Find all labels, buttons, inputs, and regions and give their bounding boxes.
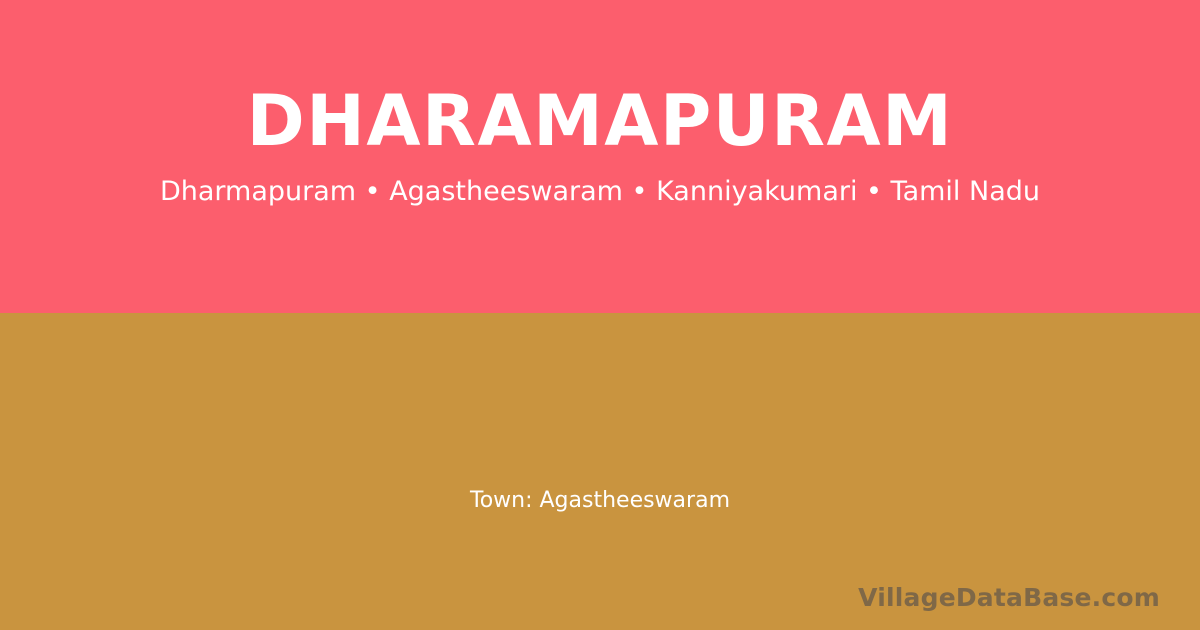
breadcrumb: Dharmapuram • Agastheeswaram • Kanniyaku… <box>0 172 1200 212</box>
hero-text-block: DHARAMAPURAM Dharmapuram • Agastheeswara… <box>0 78 1200 212</box>
page-title: DHARAMAPURAM <box>0 78 1200 164</box>
village-info-card: DHARAMAPURAM Dharmapuram • Agastheeswara… <box>0 0 1200 630</box>
site-watermark: VillageDataBase.com <box>858 583 1160 613</box>
town-detail-text: Town: Agastheeswaram <box>0 485 1200 517</box>
hero-banner: DHARAMAPURAM Dharmapuram • Agastheeswara… <box>0 0 1200 313</box>
